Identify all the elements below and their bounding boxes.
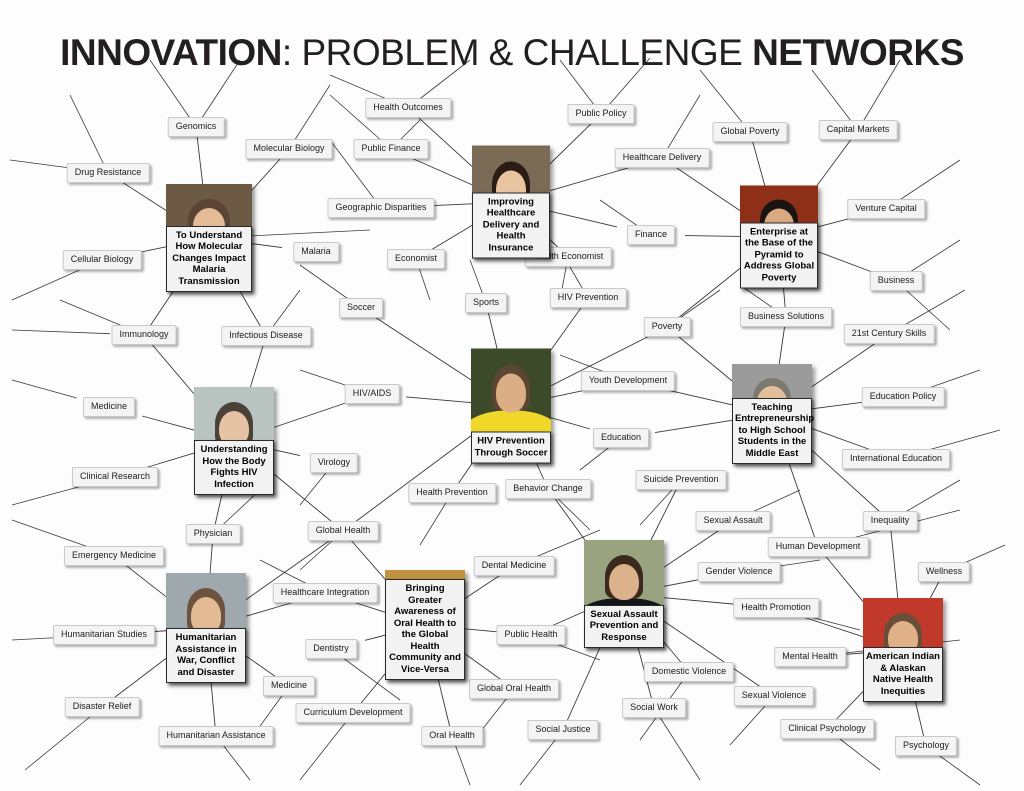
hub-caption-hiv-body: Understanding How the Body Fights HIV In… <box>194 440 274 495</box>
hub-node-oral-health[interactable]: Bringing Greater Awareness of Oral Healt… <box>385 570 465 680</box>
edge-base-of-pyramid-to-healthcare-delivery-kw <box>675 167 740 211</box>
edge-malaria-to-malaria-kw <box>252 244 282 248</box>
keyword-chip-clinical-psychology[interactable]: Clinical Psychology <box>780 719 874 739</box>
keyword-chip-soccer[interactable]: Soccer <box>339 298 383 318</box>
keyword-chip-poverty[interactable]: Poverty <box>644 317 691 337</box>
edge-malaria-to-immunology <box>150 292 173 326</box>
keyword-chip-social-work[interactable]: Social Work <box>622 698 686 718</box>
edge-hiv-soccer-to-behavior-change <box>537 464 544 481</box>
keyword-chip-sexual-assault-kw[interactable]: Sexual Assault <box>695 511 770 531</box>
edge-hiv-soccer-to-sports <box>488 312 497 349</box>
hub-caption-american-indian: American Indian & Alaskan Native Health … <box>863 647 943 702</box>
keyword-chip-inequality[interactable]: Inequality <box>863 511 918 531</box>
edge-hiv-body-to-global-health <box>274 474 332 522</box>
keyword-chip-oral-health-kw[interactable]: Oral Health <box>421 726 483 746</box>
hub-caption-hiv-soccer: HIV Prevention Through Soccer <box>471 432 551 464</box>
edge-healthcare-delivery-to-public-finance <box>411 158 472 185</box>
edge-american-indian-to-psychology <box>915 702 923 737</box>
edge-humanitarian-to-disaster-relief <box>114 658 166 698</box>
peripheral-edge-64 <box>680 290 720 318</box>
diagram-canvas: INNOVATION: PROBLEM & CHALLENGE NETWORKS… <box>0 0 1024 791</box>
keyword-chip-sexual-violence[interactable]: Sexual Violence <box>734 686 814 706</box>
peripheral-edge-68 <box>300 370 345 385</box>
edge-hiv-body-to-hiv-aids <box>274 403 346 427</box>
edge-base-of-pyramid-to-business-solutions <box>784 289 786 309</box>
peripheral-edge-47 <box>839 738 880 770</box>
peripheral-edge-3 <box>70 95 104 164</box>
edge-hiv-body-to-physician <box>215 495 222 525</box>
edge-entrepreneurship-to-education <box>655 420 732 432</box>
keyword-chip-youth-development[interactable]: Youth Development <box>581 371 675 391</box>
keyword-chip-mental-health[interactable]: Mental Health <box>774 647 846 667</box>
keyword-chip-clinical-research[interactable]: Clinical Research <box>72 467 158 487</box>
peripheral-edge-60 <box>223 490 260 525</box>
keyword-chip-suicide-prevention[interactable]: Suicide Prevention <box>635 470 726 490</box>
peripheral-edge-23 <box>12 330 110 334</box>
keyword-chip-drug-resistance[interactable]: Drug Resistance <box>67 163 150 183</box>
keyword-chip-venture-capital[interactable]: Venture Capital <box>847 199 925 219</box>
edge-sexual-assault-to-suicide-prevention <box>651 489 677 540</box>
keyword-chip-immunology[interactable]: Immunology <box>111 325 176 345</box>
edge-base-of-pyramid-to-global-poverty <box>752 141 764 186</box>
keyword-chip-international-education[interactable]: International Education <box>842 449 950 469</box>
keyword-chip-education-policy[interactable]: Education Policy <box>862 387 945 407</box>
hub-caption-malaria: To Understand How Molecular Changes Impa… <box>166 226 252 293</box>
keyword-chip-public-finance[interactable]: Public Finance <box>353 139 428 159</box>
edge-oral-health-to-dental-medicine <box>465 575 500 598</box>
peripheral-edge-39 <box>300 722 346 780</box>
edge-hiv-soccer-to-hiv-prevention <box>551 307 582 350</box>
hub-caption-entrepreneurship: Teaching Entrepreneurship to High School… <box>732 398 812 465</box>
peripheral-edge-44 <box>660 717 700 780</box>
keyword-chip-dentistry[interactable]: Dentistry <box>305 639 357 659</box>
keyword-chip-global-oral-health[interactable]: Global Oral Health <box>469 679 559 699</box>
peripheral-edge-12 <box>667 95 700 149</box>
hub-node-american-indian[interactable]: American Indian & Alaskan Native Health … <box>863 598 943 702</box>
peripheral-edge-59 <box>260 560 307 584</box>
peripheral-edge-33 <box>600 200 638 226</box>
edge-oral-health-to-healthcare-integration <box>353 602 385 612</box>
edge-humanitarian-to-healthcare-integration <box>246 602 294 616</box>
peripheral-edge-29 <box>470 260 483 294</box>
edge-sexual-assault-to-health-promotion <box>664 598 742 605</box>
edge-base-of-pyramid-to-capital-markets <box>817 139 851 186</box>
keyword-chip-humanitarian-studies[interactable]: Humanitarian Studies <box>53 625 155 645</box>
edge-american-indian-to-human-development <box>825 556 863 602</box>
hub-node-hiv-body[interactable]: Understanding How the Body Fights HIV In… <box>194 387 274 495</box>
keyword-chip-human-development[interactable]: Human Development <box>768 537 869 557</box>
edge-humanitarian-to-physician <box>210 543 212 573</box>
keyword-chip-education[interactable]: Education <box>593 428 649 448</box>
keyword-chip-public-health[interactable]: Public Health <box>496 625 565 645</box>
edge-oral-health-to-public-health <box>465 629 497 632</box>
edge-malaria-to-molecular-biology <box>252 158 281 190</box>
edge-hiv-body-to-immunology <box>152 344 194 394</box>
edge-healthcare-delivery-to-economist <box>431 225 472 250</box>
edge-oral-health-to-dentistry <box>365 635 385 640</box>
keyword-chip-geographic-disparities[interactable]: Geographic Disparities <box>327 198 434 218</box>
edge-hiv-body-to-clinical-research <box>145 453 194 468</box>
edge-malaria-to-infectious-disease <box>240 292 260 327</box>
hub-caption-humanitarian: Humanitarian Assistance in War, Conflict… <box>166 628 246 683</box>
peripheral-edge-69 <box>252 230 370 236</box>
edge-entrepreneurship-to-youth-development <box>662 389 732 405</box>
edge-base-of-pyramid-to-finance <box>685 236 740 237</box>
peripheral-edge-21 <box>928 430 1000 450</box>
peripheral-edge-2 <box>10 160 74 168</box>
edge-hiv-body-to-infectious-disease <box>250 345 263 387</box>
peripheral-edge-22 <box>60 300 122 326</box>
keyword-chip-healthcare-delivery-kw[interactable]: Healthcare Delivery <box>615 148 710 168</box>
keyword-chip-hiv-aids[interactable]: HIV/AIDS <box>345 384 400 404</box>
edge-healthcare-delivery-to-healthcare-delivery-kw <box>550 167 631 191</box>
keyword-chip-health-promotion[interactable]: Health Promotion <box>733 598 819 618</box>
keyword-chip-sports[interactable]: Sports <box>465 293 507 313</box>
peripheral-edge-15 <box>700 70 743 123</box>
edge-base-of-pyramid-to-poverty <box>678 268 740 318</box>
peripheral-edge-37 <box>223 745 250 780</box>
keyword-chip-virology[interactable]: Virology <box>310 453 358 473</box>
keyword-chip-molecular-biology[interactable]: Molecular Biology <box>245 139 332 159</box>
keyword-chip-humanitarian-assistance[interactable]: Humanitarian Assistance <box>158 726 273 746</box>
keyword-chip-gender-violence[interactable]: Gender Violence <box>698 562 781 582</box>
keyword-chip-domestic-violence[interactable]: Domestic Violence <box>644 662 734 682</box>
edge-entrepreneurship-to-international-education <box>812 429 871 450</box>
edge-hiv-soccer-to-global-health <box>355 436 471 522</box>
hub-caption-oral-health: Bringing Greater Awareness of Oral Healt… <box>385 579 465 680</box>
edge-hiv-body-to-medicine-left <box>142 416 194 430</box>
page-title: INNOVATION: PROBLEM & CHALLENGE NETWORKS <box>0 30 1024 76</box>
keyword-chip-business[interactable]: Business <box>870 271 923 291</box>
keyword-chip-medicine-bottom[interactable]: Medicine <box>263 676 315 696</box>
edge-american-indian-to-wellness <box>930 581 939 598</box>
keyword-chip-wellness[interactable]: Wellness <box>918 562 970 582</box>
title-part-2: : PROBLEM & CHALLENGE <box>282 32 752 73</box>
hub-node-entrepreneurship[interactable]: Teaching Entrepreneurship to High School… <box>732 364 812 464</box>
edge-american-indian-to-inequality <box>891 530 898 598</box>
keyword-chip-dental-medicine[interactable]: Dental Medicine <box>474 556 555 576</box>
keyword-chip-healthcare-integration[interactable]: Healthcare Integration <box>273 583 378 603</box>
edge-entrepreneurship-to-poverty <box>678 336 732 381</box>
keyword-chip-genomics[interactable]: Genomics <box>168 117 225 137</box>
edge-malaria-to-genomics <box>197 136 203 184</box>
peripheral-edge-24 <box>273 290 300 327</box>
title-part-3: NETWORKS <box>752 32 964 73</box>
keyword-chip-emergency-medicine[interactable]: Emergency Medicine <box>64 546 164 566</box>
peripheral-edge-50 <box>905 480 960 512</box>
keyword-chip-health-outcomes[interactable]: Health Outcomes <box>365 98 451 118</box>
keyword-chip-21st-century-skills[interactable]: 21st Century Skills <box>844 324 935 344</box>
keyword-chip-global-health[interactable]: Global Health <box>308 521 379 541</box>
hub-node-malaria[interactable]: To Understand How Molecular Changes Impa… <box>166 184 252 292</box>
edge-oral-health-to-curriculum-development <box>360 674 385 704</box>
keyword-chip-medicine-left[interactable]: Medicine <box>83 397 135 417</box>
keyword-chip-psychology[interactable]: Psychology <box>895 736 957 756</box>
edge-american-indian-to-mental-health <box>844 653 863 654</box>
peripheral-edge-62 <box>752 490 800 512</box>
peripheral-edge-31 <box>419 268 430 300</box>
hub-node-healthcare-delivery[interactable]: Improving Healthcare Delivery and Health… <box>472 146 550 259</box>
peripheral-edge-19 <box>905 290 965 325</box>
edge-oral-health-to-oral-health-kw <box>438 680 449 727</box>
edge-entrepreneurship-to-human-development <box>789 464 815 538</box>
peripheral-edge-36 <box>25 716 91 770</box>
edge-entrepreneurship-to-education-policy <box>812 401 869 408</box>
edge-hiv-soccer-to-soccer <box>375 317 471 380</box>
edge-malaria-to-drug-resistance <box>122 182 166 210</box>
peripheral-edge-53 <box>640 489 673 525</box>
keyword-chip-social-justice[interactable]: Social Justice <box>527 720 598 740</box>
keyword-chip-finance[interactable]: Finance <box>627 225 675 245</box>
edge-humanitarian-to-emergency-medicine <box>126 565 167 597</box>
edge-sexual-assault-to-public-health <box>551 612 584 626</box>
hub-caption-sexual-assault: Sexual Assault Prevention and Response <box>584 605 664 649</box>
peripheral-edge-48 <box>938 755 980 785</box>
edge-oral-health-to-global-oral-health <box>465 654 501 680</box>
keyword-chip-malaria[interactable]: Malaria <box>293 242 339 262</box>
peripheral-edge-49 <box>964 545 1005 563</box>
peripheral-edge-5 <box>12 269 82 300</box>
peripheral-edge-58 <box>300 540 333 570</box>
edge-entrepreneurship-to-21st-century-skills <box>812 343 876 387</box>
edge-hiv-soccer-to-hiv-aids <box>406 397 471 403</box>
keyword-chip-economist[interactable]: Economist <box>387 249 445 269</box>
peripheral-edge-34 <box>12 520 89 547</box>
edge-base-of-pyramid-to-venture-capital <box>818 218 852 227</box>
keyword-chip-cellular-biology[interactable]: Cellular Biology <box>63 250 142 270</box>
edge-oral-health-to-global-health <box>351 540 385 579</box>
edge-entrepreneurship-to-business-solutions <box>779 326 784 364</box>
keyword-chip-capital-markets[interactable]: Capital Markets <box>819 120 898 140</box>
keyword-chip-curriculum-development[interactable]: Curriculum Development <box>295 703 410 723</box>
peripheral-edge-27 <box>300 472 327 505</box>
hub-node-base-of-pyramid[interactable]: Enterprise at the Base of the Pyramid to… <box>740 186 818 289</box>
title-part-1: INNOVATION <box>60 32 282 73</box>
hub-node-sexual-assault[interactable]: Sexual Assault Prevention and Response <box>584 540 664 648</box>
hub-caption-healthcare-delivery: Improving Healthcare Delivery and Health… <box>472 192 550 259</box>
keyword-chip-global-poverty[interactable]: Global Poverty <box>712 122 787 142</box>
peripheral-edge-56 <box>420 502 446 545</box>
edge-hiv-soccer-to-education <box>551 418 590 429</box>
edge-sexual-assault-to-social-justice <box>567 648 600 721</box>
edge-american-indian-to-health-promotion <box>803 617 863 637</box>
peripheral-edge-7 <box>330 75 387 99</box>
peripheral-edge-25 <box>12 380 77 398</box>
edge-hiv-body-to-virology <box>274 450 300 456</box>
keyword-chip-health-prevention[interactable]: Health Prevention <box>408 483 496 503</box>
edge-humanitarian-to-humanitarian-assistance <box>211 683 215 727</box>
peripheral-edge-43 <box>520 739 556 785</box>
keyword-chip-infectious-disease[interactable]: Infectious Disease <box>221 326 311 346</box>
edge-hiv-soccer-to-health-prevention <box>458 464 472 485</box>
edge-american-indian-to-clinical-psychology <box>836 692 863 720</box>
hub-node-hiv-soccer[interactable]: HIV Prevention Through Soccer <box>471 349 551 464</box>
peripheral-edge-14 <box>812 70 851 121</box>
peripheral-edge-20 <box>929 370 980 388</box>
peripheral-edge-46 <box>730 705 766 745</box>
hub-caption-base-of-pyramid: Enterprise at the Base of the Pyramid to… <box>740 222 818 289</box>
keyword-chip-public-policy[interactable]: Public Policy <box>567 104 634 124</box>
keyword-chip-hiv-prevention[interactable]: HIV Prevention <box>550 288 627 308</box>
keyword-chip-disaster-relief[interactable]: Disaster Relief <box>65 697 140 717</box>
edge-humanitarian-to-medicine-bottom <box>246 656 276 677</box>
peripheral-edge-57 <box>557 498 590 530</box>
keyword-chip-physician[interactable]: Physician <box>186 524 241 544</box>
edge-healthcare-delivery-to-public-policy <box>550 123 592 164</box>
edge-sexual-assault-to-behavior-change <box>555 498 585 540</box>
peripheral-edge-63 <box>810 617 860 630</box>
edge-base-of-pyramid-to-business <box>818 252 872 272</box>
peripheral-edge-4 <box>295 85 330 140</box>
peripheral-edge-17 <box>910 240 960 272</box>
peripheral-edge-41 <box>455 745 470 785</box>
peripheral-edge-66 <box>580 447 609 470</box>
peripheral-edge-70 <box>400 120 420 140</box>
peripheral-edge-65 <box>560 355 604 372</box>
hub-node-humanitarian[interactable]: Humanitarian Assistance in War, Conflict… <box>166 573 246 683</box>
peripheral-edge-16 <box>900 160 960 200</box>
peripheral-edge-26 <box>12 486 82 505</box>
edge-sexual-assault-to-domestic-violence <box>664 642 682 663</box>
peripheral-edge-28 <box>300 265 348 299</box>
keyword-chip-behavior-change[interactable]: Behavior Change <box>505 479 591 499</box>
edge-healthcare-delivery-to-finance <box>550 211 617 227</box>
keyword-chip-business-solutions[interactable]: Business Solutions <box>740 307 832 327</box>
